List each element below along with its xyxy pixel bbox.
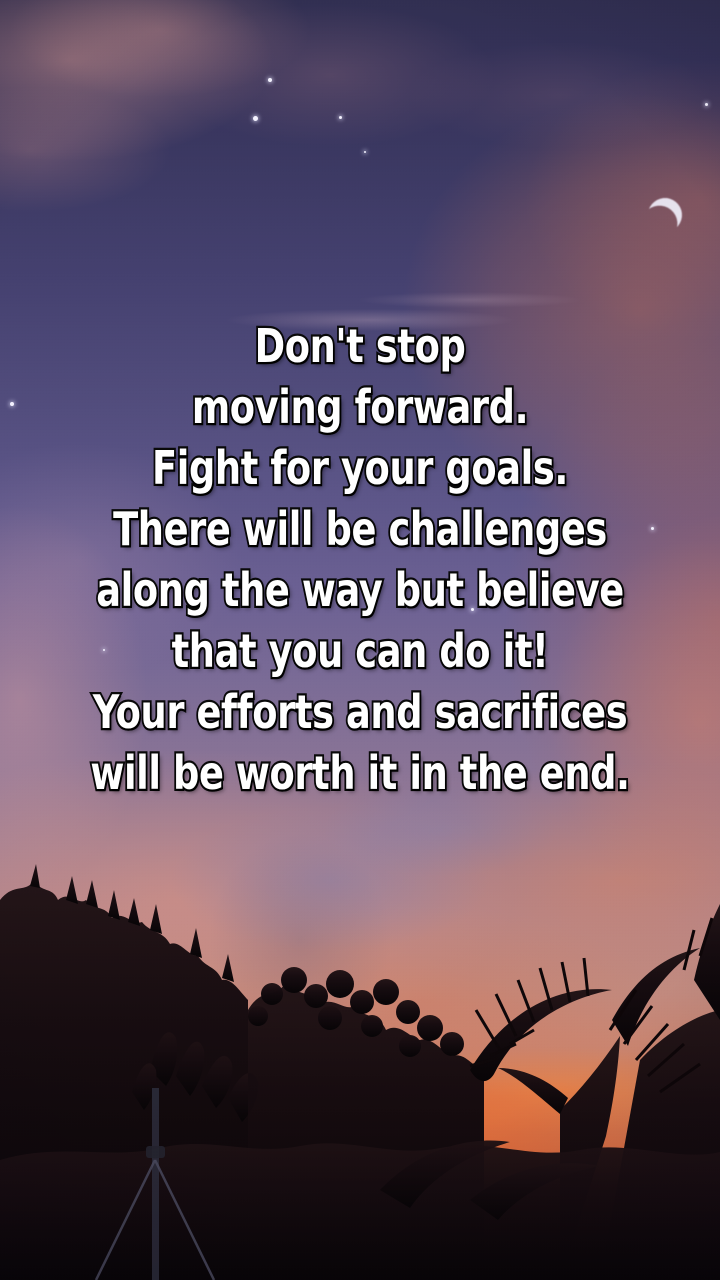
palm-cluster-right: [498, 904, 720, 1280]
quote-poster: Don't stop moving forward. Fight for you…: [0, 0, 720, 1280]
tree-left: [0, 864, 248, 1280]
quote-line-2: moving forward.: [88, 377, 632, 438]
ground-brush: [0, 1141, 720, 1280]
quote-line-8: will be worth it in the end.: [88, 743, 632, 804]
pole-with-guy-wires: [96, 1088, 214, 1280]
palm-frond-arching: [470, 958, 612, 1081]
star-1: [268, 78, 272, 82]
tree-canopy-centre: [248, 967, 484, 1280]
quote-line-6: that you can do it!: [88, 621, 632, 682]
banana-leaves-left: [132, 1032, 258, 1122]
star-5: [705, 103, 708, 106]
quote-text-block: Don't stop moving forward. Fight for you…: [0, 316, 720, 804]
quote-line-7: Your efforts and sacrifices: [88, 682, 632, 743]
star-3: [339, 116, 342, 119]
treeline-silhouette: [0, 860, 720, 1280]
star-4: [364, 151, 366, 153]
quote-line-4: There will be challenges: [88, 499, 632, 560]
star-2: [253, 116, 258, 121]
crescent-moon-icon: [642, 192, 688, 238]
quote-line-1: Don't stop: [88, 316, 632, 377]
quote-line-3: Fight for your goals.: [88, 438, 632, 499]
quote-line-5: along the way but believe: [88, 560, 632, 621]
